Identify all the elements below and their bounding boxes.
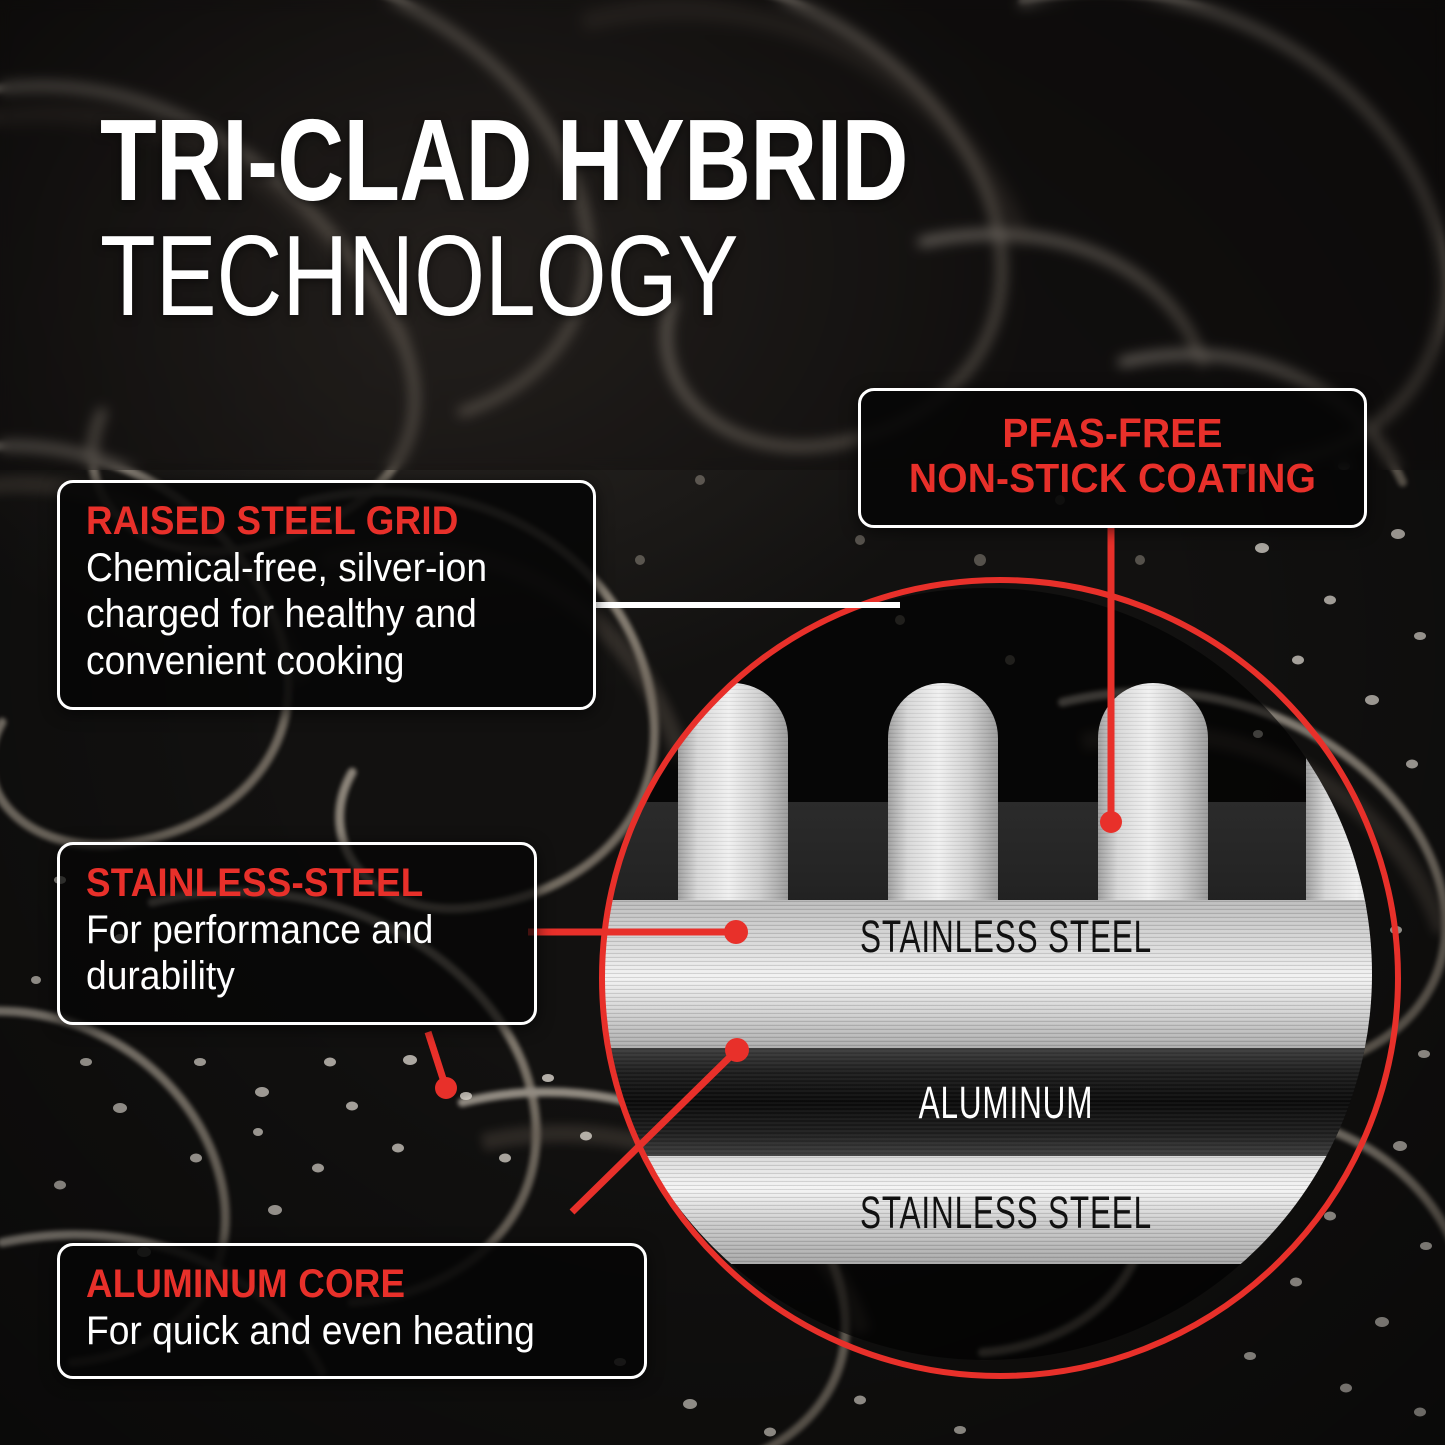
layer-label-top-stainless: STAINLESS STEEL bbox=[860, 913, 1152, 963]
page-title: TRI-CLAD HYBRID TECHNOLOGY bbox=[100, 104, 1220, 334]
callout-body-raised-steel-grid: Chemical-free, silver-ion charged for he… bbox=[86, 545, 533, 685]
callout-aluminum-core[interactable]: ALUMINUM CORE For quick and even heating bbox=[57, 1243, 647, 1379]
callout-title-pfas-free-line-1: PFAS-FREE bbox=[891, 411, 1335, 456]
layer-label-bottom-stainless: STAINLESS STEEL bbox=[860, 1189, 1152, 1239]
callout-stainless-steel[interactable]: STAINLESS-STEEL For performance and dura… bbox=[57, 842, 537, 1025]
callout-title-stainless-steel: STAINLESS-STEEL bbox=[86, 863, 474, 905]
callout-pfas-free-non-stick[interactable]: PFAS-FREE NON-STICK COATING bbox=[858, 388, 1367, 528]
cross-section-diagram: STAINLESS STEEL ALUMINUM STAINLESS STEEL bbox=[600, 570, 1412, 1394]
callout-body-aluminum-core: For quick and even heating bbox=[86, 1308, 581, 1355]
callout-body-stainless-steel: For performance and durability bbox=[86, 907, 478, 1001]
callout-title-pfas-free-line-2: NON-STICK COATING bbox=[891, 456, 1335, 501]
callout-title-raised-steel-grid: RAISED STEEL GRID bbox=[86, 501, 529, 543]
callout-raised-steel-grid[interactable]: RAISED STEEL GRID Chemical-free, silver-… bbox=[57, 480, 596, 710]
layer-label-aluminum: ALUMINUM bbox=[919, 1079, 1094, 1129]
callout-title-aluminum-core: ALUMINUM CORE bbox=[86, 1264, 575, 1306]
diagram-circle-interior: STAINLESS STEEL ALUMINUM STAINLESS STEEL bbox=[580, 570, 1440, 1394]
headline-line-1: TRI-CLAD HYBRID bbox=[100, 104, 996, 218]
headline-line-2: TECHNOLOGY bbox=[100, 220, 996, 334]
infographic-canvas: TRI-CLAD HYBRID TECHNOLOGY bbox=[0, 0, 1445, 1445]
